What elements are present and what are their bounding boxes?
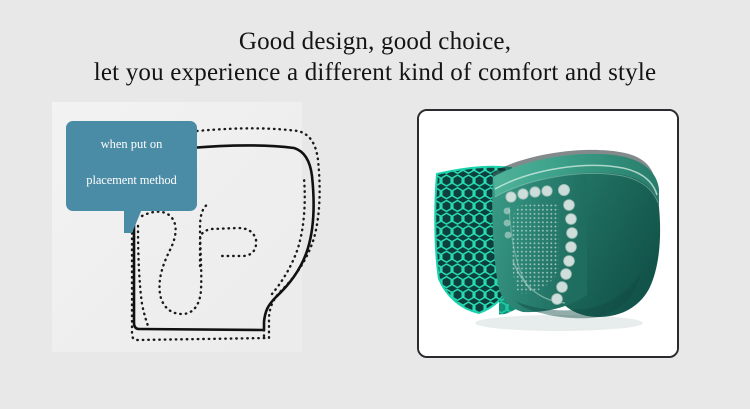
- sketch-dotted-right-seam: [272, 178, 305, 294]
- headline-line-2: let you experience a different kind of c…: [0, 57, 750, 88]
- callout-bubble: when put on placement method: [66, 121, 197, 211]
- callout-line-1: when put on: [74, 137, 189, 151]
- micro-dot-texture: [512, 203, 559, 293]
- product-shadow: [475, 315, 643, 331]
- callout-line-2: placement method: [74, 173, 189, 187]
- boxer-brief-product-photo: [419, 111, 677, 356]
- headline-line-1: Good design, good choice,: [0, 26, 750, 57]
- callout-tail: [124, 209, 142, 233]
- sketch-dotted-left-seam: [138, 226, 148, 326]
- promo-banner: Good design, good choice, let you experi…: [0, 0, 750, 409]
- sketch-dotted-pouch-lower: [218, 240, 256, 256]
- sketch-dotted-gusset: [142, 204, 208, 314]
- sketch-dotted-pouch: [200, 228, 256, 266]
- product-photo-card: [417, 109, 679, 358]
